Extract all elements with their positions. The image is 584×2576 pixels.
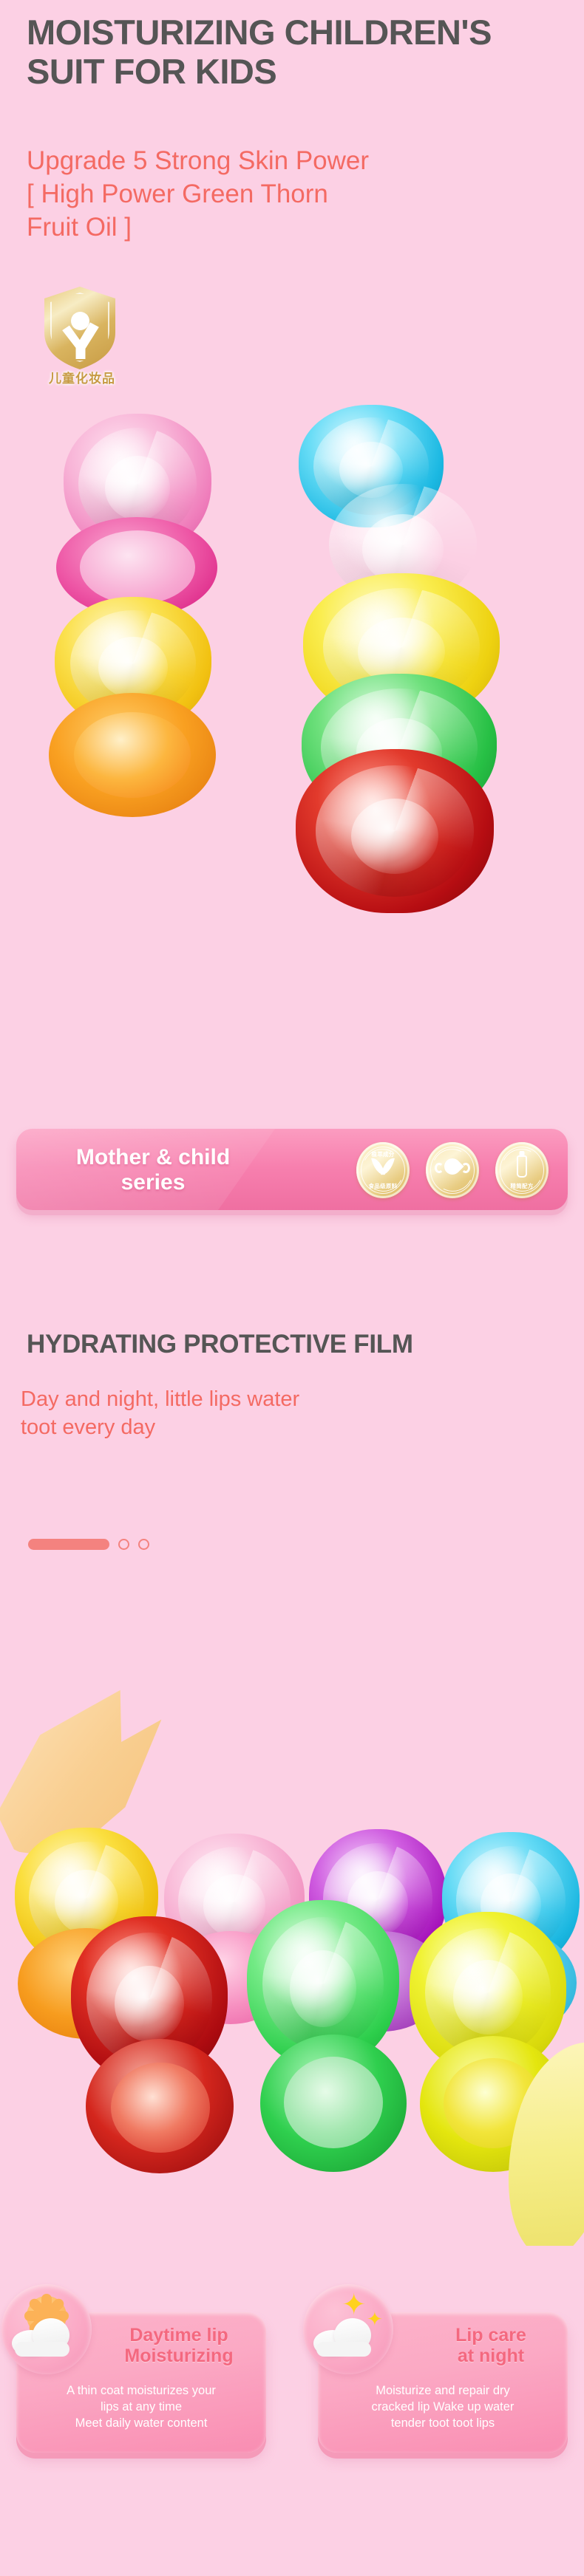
medallion-water-drop: [426, 1142, 479, 1198]
feature-card-body-line-1: A thin coat moisturizes your: [25, 2383, 257, 2399]
page-subtitle-line-3: Fruit Oil ]: [27, 211, 544, 245]
child-head-shape: [71, 312, 89, 330]
feature-card-title-line-2: Moisturizing: [103, 2346, 254, 2367]
series-banner-title: Mother & child series: [38, 1145, 268, 1195]
sparkle-large-icon: ✦: [342, 2290, 367, 2320]
product-rose-red: [296, 749, 494, 913]
feature-card-body-line-3: Meet daily water content: [25, 2416, 257, 2432]
medallion-bottle: 精简配方: [495, 1142, 549, 1198]
pagination-dot-active[interactable]: [28, 1539, 109, 1550]
section-two-subtitle: Day and night, little lips water toot ev…: [21, 1386, 553, 1441]
feature-card-body: Moisturize and repair dry cracked lip Wa…: [327, 2383, 559, 2431]
sparkle-cloud-night-icon: ✦ ✦: [303, 2284, 393, 2374]
medallion-label-bottom: 精简配方: [495, 1182, 549, 1190]
feature-card-title-line-1: Daytime lip: [103, 2326, 254, 2346]
page-subtitle: Upgrade 5 Strong Skin Power [ High Power…: [27, 145, 544, 244]
product-pan-green-2-inner: [284, 2057, 383, 2148]
series-banner-title-line-2: series: [38, 1170, 268, 1195]
feature-card-title-line-1: Lip care: [423, 2326, 559, 2346]
feature-card-title: Lip care at night: [423, 2326, 559, 2366]
product-pan-orange-inner: [74, 712, 191, 798]
page-title-line-2: SUIT FOR KIDS: [27, 52, 559, 92]
bottle-icon: [517, 1155, 527, 1178]
sun-behind-cloud-icon: [1, 2284, 92, 2374]
recycle-arrow-right-icon: [461, 1163, 470, 1173]
page-title: MOISTURIZING CHILDREN'S SUIT FOR KIDS: [27, 13, 559, 91]
feature-card-title: Daytime lip Moisturizing: [103, 2326, 254, 2366]
product-gallery-top: [0, 399, 584, 1108]
feature-card-title-line-2: at night: [423, 2346, 559, 2367]
feature-card-body-line-1: Moisturize and repair dry: [327, 2383, 559, 2399]
pagination-dot-3[interactable]: [138, 1539, 149, 1550]
certification-badge-caption: 儿童化妆品: [34, 368, 130, 386]
series-banner-title-line-1: Mother & child: [38, 1145, 268, 1170]
cloud-icon: [12, 2318, 71, 2357]
feature-card-body-line-2: cracked lip Wake up water: [327, 2399, 559, 2416]
medallion-leaf: 植萃成分 食品级原料: [356, 1142, 410, 1198]
feature-card-group: Daytime lip Moisturizing A thin coat moi…: [0, 2281, 584, 2495]
section-two-subtitle-line-2: toot every day: [21, 1414, 553, 1442]
certification-badge: 儿童化妆品: [34, 287, 130, 390]
series-banner[interactable]: Mother & child series 植萃成分 食品级原料 精简配方: [16, 1129, 568, 1210]
pagination[interactable]: [28, 1539, 149, 1550]
section-two-title: HYDRATING PROTECTIVE FILM: [27, 1330, 559, 1359]
pagination-dot-2[interactable]: [118, 1539, 129, 1550]
product-pan-red-2-inner: [111, 2063, 210, 2153]
cloud-icon: [313, 2318, 373, 2357]
product-pan-magenta-inner: [80, 530, 195, 604]
feature-card-body: A thin coat moisturizes your lips at any…: [25, 2383, 257, 2431]
page-title-line-1: MOISTURIZING CHILDREN'S: [27, 13, 559, 52]
product-gallery-bottom: [0, 1566, 584, 2246]
page-subtitle-line-1: Upgrade 5 Strong Skin Power: [27, 145, 544, 178]
recycle-arrow-left-icon: [435, 1163, 444, 1173]
page-subtitle-line-2: [ High Power Green Thorn: [27, 178, 544, 211]
feature-card-body-line-3: tender toot toot lips: [327, 2416, 559, 2432]
feature-card-body-line-2: lips at any time: [25, 2399, 257, 2416]
leaf-icon: [373, 1157, 393, 1179]
section-two-subtitle-line-1: Day and night, little lips water: [21, 1386, 553, 1414]
medallion-group: 植萃成分 食品级原料 精简配方: [356, 1142, 549, 1198]
medallion-label-bottom: 食品级原料: [356, 1182, 410, 1190]
